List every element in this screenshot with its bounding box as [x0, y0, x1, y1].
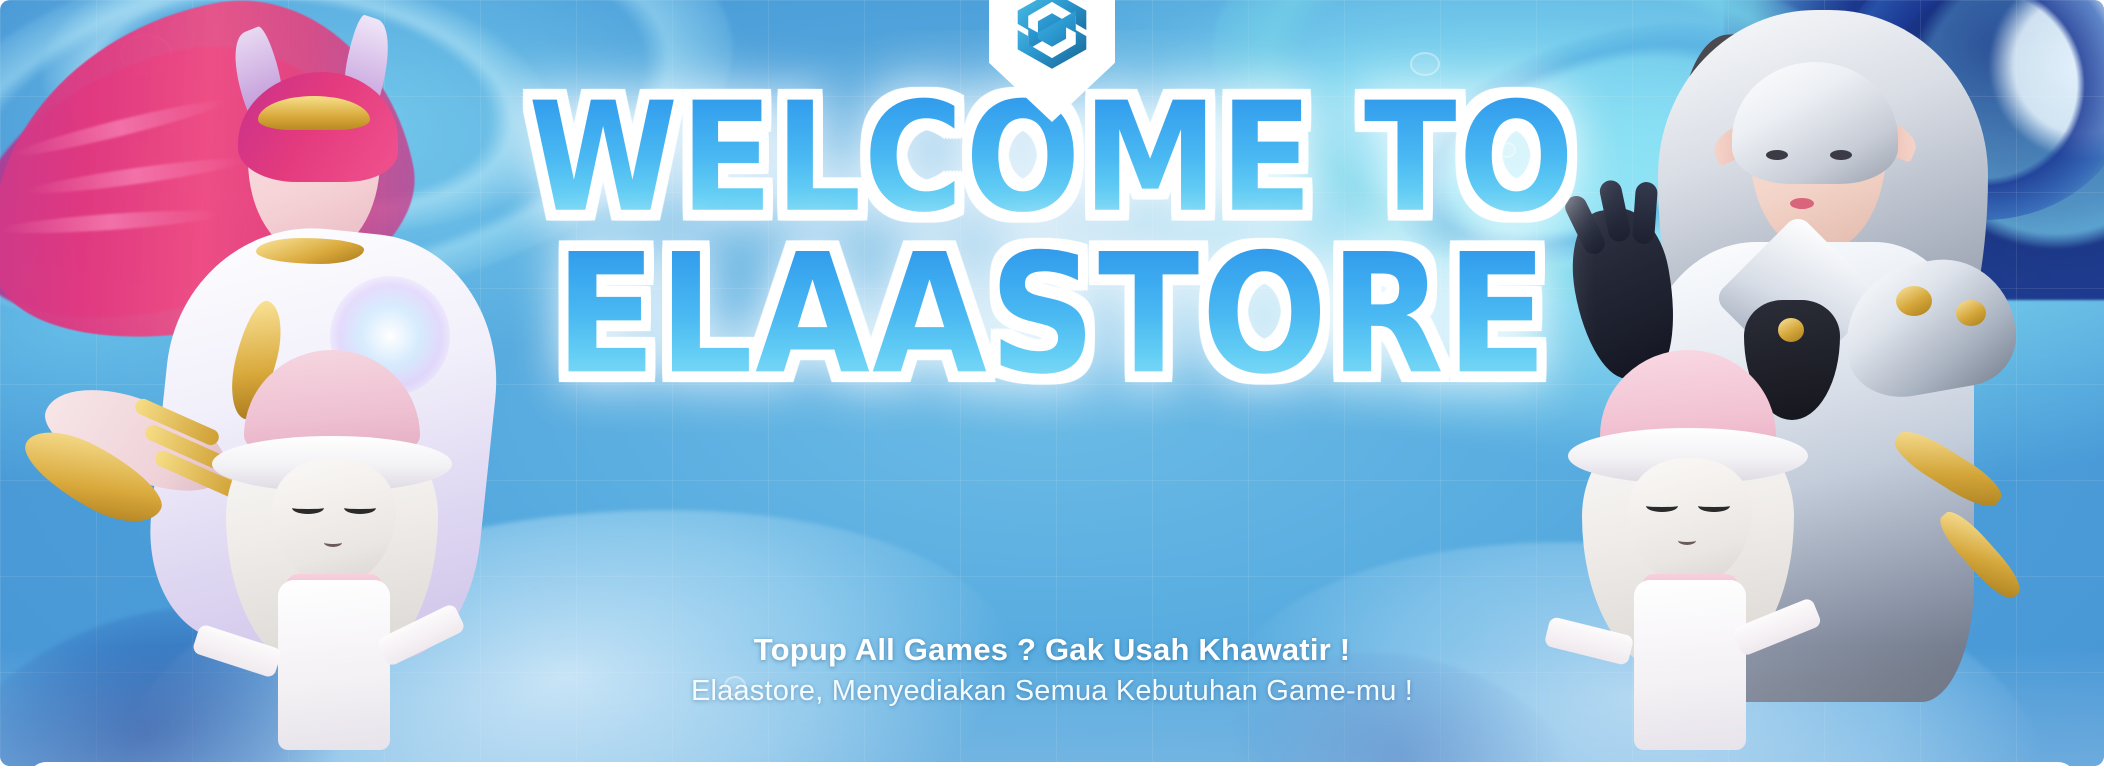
page-root: WELCOME TO ELAASTORE Topup All Games ? G… — [0, 0, 2104, 778]
hero-tagline-block: Topup All Games ? Gak Usah Khawatir ! El… — [0, 632, 2104, 708]
content-panel — [28, 762, 2076, 778]
tagline-headline: Topup All Games ? Gak Usah Khawatir ! — [0, 632, 2104, 668]
logo-badge[interactable] — [989, 0, 1115, 122]
hero-title-block: WELCOME TO ELAASTORE — [0, 100, 2104, 381]
elaastore-hexagon-logo-icon — [1008, 0, 1096, 76]
hero-banner[interactable]: WELCOME TO ELAASTORE Topup All Games ? G… — [0, 0, 2104, 766]
hero-title-line-2: ELAASTORE — [528, 240, 1576, 392]
tagline-subline: Elaastore, Menyediakan Semua Kebutuhan G… — [0, 675, 2104, 708]
